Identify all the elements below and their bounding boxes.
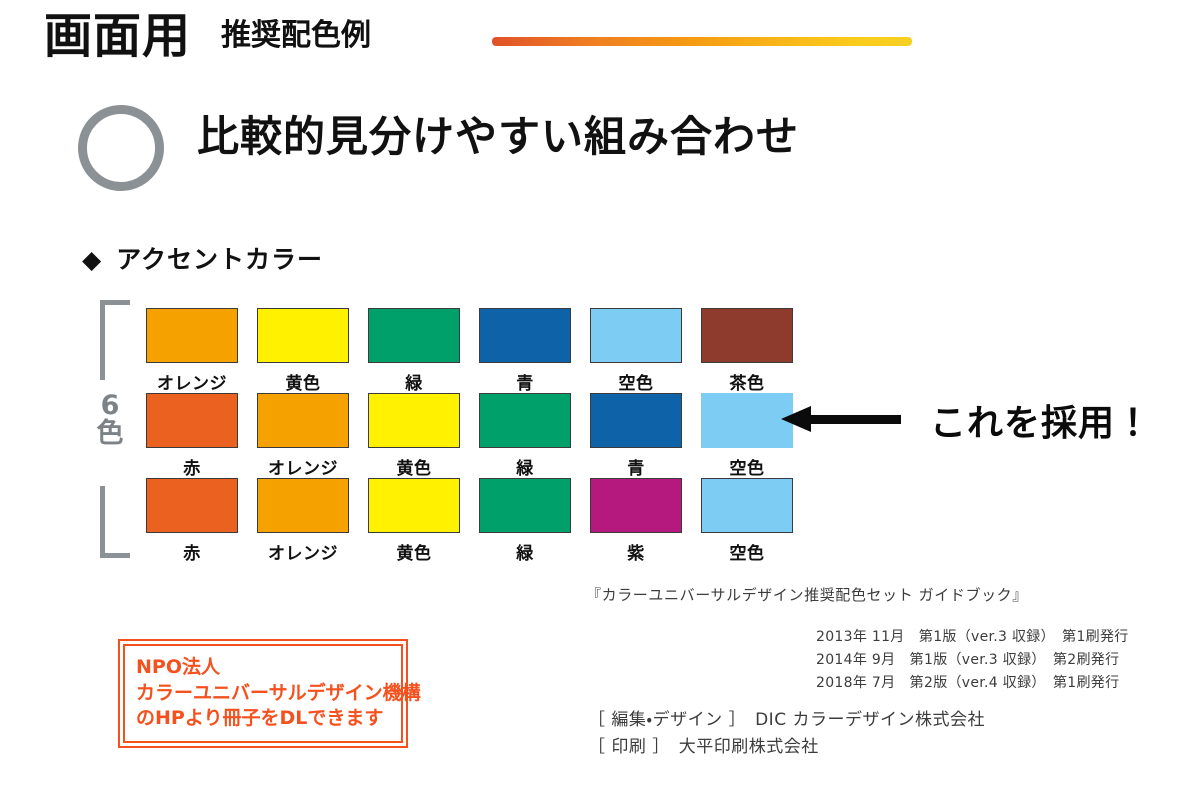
swatch-cell[interactable]: 茶色: [701, 308, 793, 394]
npo-line: NPO法人: [136, 655, 390, 681]
npo-line: カラーユニバーサルデザイン機構: [136, 681, 390, 707]
color-swatch[interactable]: [368, 393, 460, 448]
swatch-row-3: 赤 オレンジ 黄色 緑 紫 空色: [146, 478, 793, 564]
swatch-label: 黄色: [257, 369, 349, 394]
arrow-head: [781, 406, 811, 432]
swatch-label: 青: [479, 369, 571, 394]
color-swatch[interactable]: [479, 393, 571, 448]
page-subtitle: 推奨配色例: [221, 21, 371, 51]
swatch-label: 黄色: [368, 539, 460, 564]
credit-line: ［ 印刷 ］ 大平印刷株式会社: [588, 734, 985, 761]
npo-callout-box: NPO法人 カラーユニバーサルデザイン機構 のHPより冊子をDLできます: [118, 639, 408, 748]
color-swatch[interactable]: [257, 393, 349, 448]
bracket-line-lower: [100, 486, 105, 558]
swatch-cell[interactable]: 緑: [479, 393, 571, 479]
swatch-label: 緑: [479, 454, 571, 479]
swatch-label: 空色: [701, 539, 793, 564]
color-swatch[interactable]: [146, 308, 238, 363]
gradient-rule: [492, 37, 912, 46]
npo-callout-inner: NPO法人 カラーユニバーサルデザイン機構 のHPより冊子をDLできます: [123, 644, 403, 743]
circle-outline-icon: [78, 105, 164, 191]
edition-line: 2018年 7月 第2版（ver.4 収録） 第1刷発行: [816, 672, 1129, 695]
swatch-cell[interactable]: オレンジ: [146, 308, 238, 394]
color-swatch[interactable]: [257, 308, 349, 363]
npo-line: のHPより冊子をDLできます: [136, 706, 390, 732]
edition-line: 2014年 9月 第1版（ver.3 収録） 第2刷発行: [816, 649, 1129, 672]
swatch-cell[interactable]: 黄色: [368, 478, 460, 564]
color-swatch[interactable]: [590, 308, 682, 363]
swatch-cell[interactable]: 青: [590, 393, 682, 479]
page-header: 画面用 推奨配色例: [44, 12, 371, 60]
slide-page: 画面用 推奨配色例 比較的見分けやすい組み合わせ ◆アクセントカラー 6 色 オ…: [0, 0, 1200, 788]
headline-text: 比較的見分けやすい組み合わせ: [197, 116, 799, 158]
color-swatch[interactable]: [590, 478, 682, 533]
color-swatch[interactable]: [701, 308, 793, 363]
color-swatch[interactable]: [479, 308, 571, 363]
swatch-label: 赤: [146, 539, 238, 564]
swatch-cell[interactable]: オレンジ: [257, 393, 349, 479]
swatch-label: 空色: [701, 454, 793, 479]
swatch-label: 赤: [146, 454, 238, 479]
color-swatch[interactable]: [368, 478, 460, 533]
arrow-shaft: [809, 415, 901, 424]
color-swatch[interactable]: [701, 478, 793, 533]
credit-line: ［ 編集・デザイン ］ DIC カラーデザイン株式会社: [588, 707, 985, 734]
section-title: アクセントカラー: [116, 245, 323, 274]
swatch-row-1: オレンジ 黄色 緑 青 空色 茶色: [146, 308, 793, 394]
swatch-label: オレンジ: [146, 369, 238, 394]
color-swatch[interactable]: [368, 308, 460, 363]
callout-text: これを採用！: [930, 394, 1152, 446]
swatch-cell[interactable]: 空色: [701, 393, 793, 479]
swatch-label: 緑: [368, 369, 460, 394]
swatch-cell[interactable]: 黄色: [368, 393, 460, 479]
bracket-label-count: 6: [87, 392, 133, 420]
edition-list: 2013年 11月 第1版（ver.3 収録） 第1刷発行 2014年 9月 第…: [816, 626, 1129, 695]
swatch-cell[interactable]: 赤: [146, 478, 238, 564]
color-swatch[interactable]: [146, 478, 238, 533]
bracket-label: 6 色: [87, 392, 133, 447]
swatch-label: オレンジ: [257, 454, 349, 479]
swatch-cell[interactable]: 緑: [479, 478, 571, 564]
book-title: 『カラーユニバーサルデザイン推奨配色セット ガイドブック』: [586, 584, 1028, 605]
bracket-line-upper: [100, 300, 105, 380]
color-swatch[interactable]: [701, 393, 793, 448]
arrow-left-icon: [781, 406, 901, 432]
swatch-label: 黄色: [368, 454, 460, 479]
color-swatch[interactable]: [146, 393, 238, 448]
color-swatch[interactable]: [479, 478, 571, 533]
swatch-cell[interactable]: 緑: [368, 308, 460, 394]
color-swatch[interactable]: [257, 478, 349, 533]
swatch-cell[interactable]: オレンジ: [257, 478, 349, 564]
color-swatch[interactable]: [590, 393, 682, 448]
bracket-tick-top: [100, 300, 130, 305]
swatch-label: 青: [590, 454, 682, 479]
swatch-label: 紫: [590, 539, 682, 564]
swatch-cell[interactable]: 空色: [590, 308, 682, 394]
swatch-label: 緑: [479, 539, 571, 564]
swatch-label: オレンジ: [257, 539, 349, 564]
swatch-cell[interactable]: 紫: [590, 478, 682, 564]
bracket-tick-bottom: [100, 553, 130, 558]
diamond-bullet-icon: ◆: [82, 245, 102, 274]
swatch-cell[interactable]: 空色: [701, 478, 793, 564]
swatch-cell[interactable]: 赤: [146, 393, 238, 479]
credits-list: ［ 編集・デザイン ］ DIC カラーデザイン株式会社 ［ 印刷 ］ 大平印刷株…: [588, 707, 985, 761]
section-heading: ◆アクセントカラー: [82, 240, 323, 276]
swatch-cell[interactable]: 青: [479, 308, 571, 394]
swatch-cell[interactable]: 黄色: [257, 308, 349, 394]
edition-line: 2013年 11月 第1版（ver.3 収録） 第1刷発行: [816, 626, 1129, 649]
bracket-label-unit: 色: [87, 420, 133, 448]
page-title: 画面用: [44, 12, 191, 60]
swatch-label: 空色: [590, 369, 682, 394]
swatch-label: 茶色: [701, 369, 793, 394]
swatch-row-2: 赤 オレンジ 黄色 緑 青 空色: [146, 393, 793, 479]
